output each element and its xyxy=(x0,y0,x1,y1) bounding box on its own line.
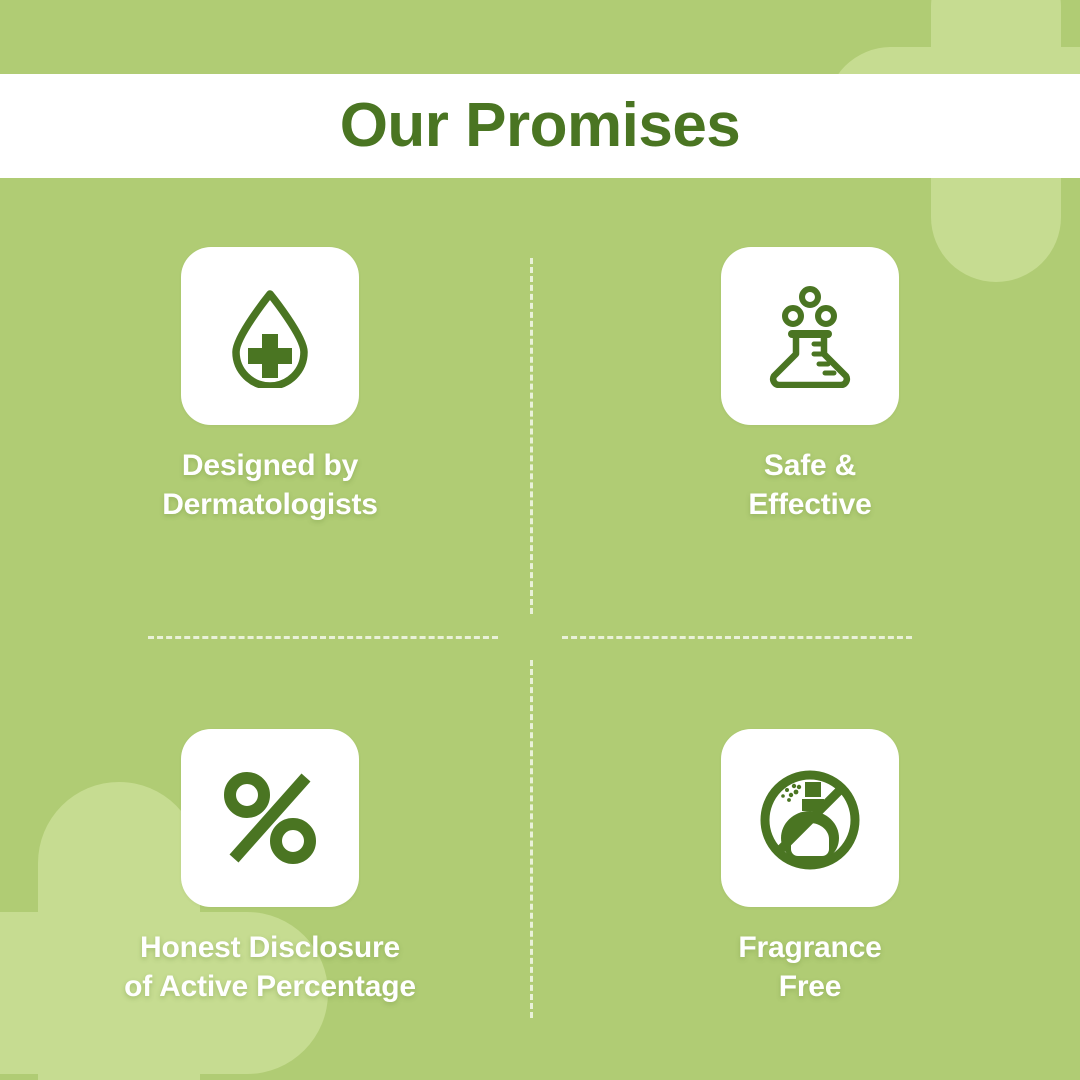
promise-label: Designed by Dermatologists xyxy=(162,447,378,524)
lab-flask-icon xyxy=(758,284,862,388)
icon-card-honest-disclosure xyxy=(181,729,359,907)
promises-grid: Designed by Dermatologists xyxy=(0,178,1080,1080)
droplet-plus-icon xyxy=(218,284,322,388)
icon-card-safe-and-effective xyxy=(721,247,899,425)
promise-item-designed-by-dermatologists: Designed by Dermatologists xyxy=(0,178,540,629)
promise-label: Fragrance Free xyxy=(738,929,881,1006)
percent-icon xyxy=(218,766,322,870)
promise-item-safe-and-effective: Safe & Effective xyxy=(540,178,1080,629)
no-perfume-icon xyxy=(758,766,862,870)
promise-label: Safe & Effective xyxy=(748,447,871,524)
header-band: Our Promises xyxy=(0,74,1080,178)
icon-card-fragrance-free xyxy=(721,729,899,907)
icon-card-designed-by-dermatologists xyxy=(181,247,359,425)
page-title: Our Promises xyxy=(340,95,741,157)
promise-item-fragrance-free: Fragrance Free xyxy=(540,629,1080,1080)
promise-label: Honest Disclosure of Active Percentage xyxy=(124,929,416,1006)
promise-item-honest-disclosure: Honest Disclosure of Active Percentage xyxy=(0,629,540,1080)
